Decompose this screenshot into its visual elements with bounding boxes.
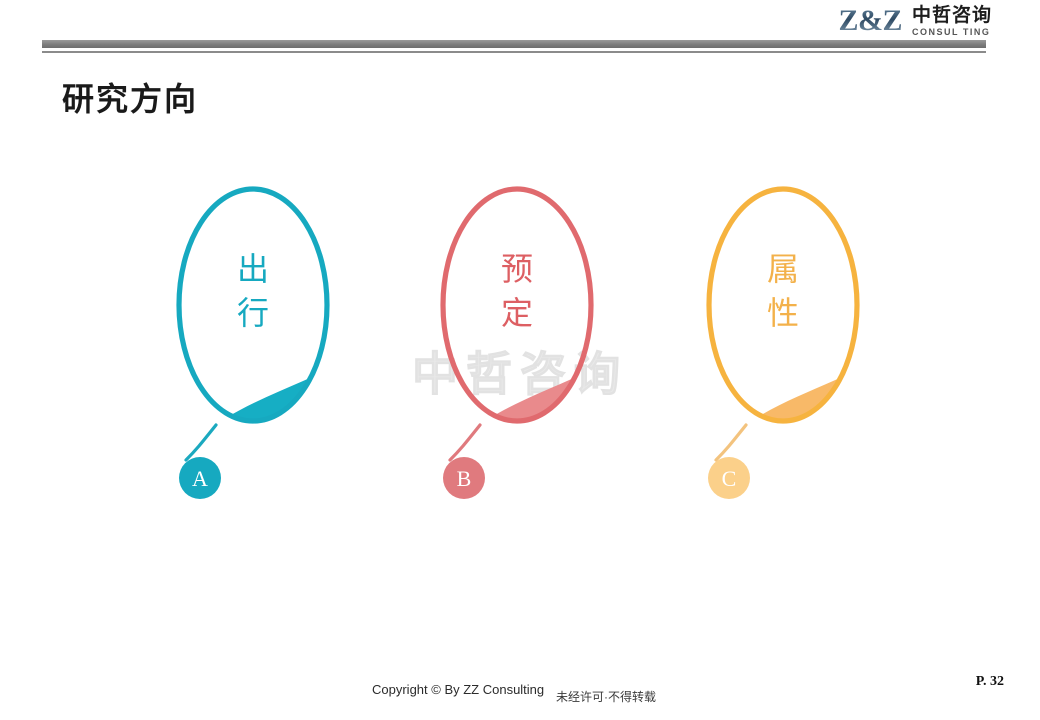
slide-canvas: Z&Z 中哲咨询 CONSUL TING 研究方向 中哲咨询 bbox=[0, 0, 1040, 720]
header-rule bbox=[42, 51, 986, 53]
diagram-area: 出 行 A 预 定 B bbox=[0, 150, 1040, 550]
leaf-shape-b bbox=[478, 365, 600, 440]
page-title: 研究方向 bbox=[62, 74, 198, 120]
connector-line-c bbox=[716, 425, 746, 460]
logo-company-name-en: CONSUL TING bbox=[912, 28, 992, 37]
header-bar bbox=[42, 40, 986, 48]
slide-footer: Copyright © By ZZ Consulting 未经许可·不得转载 P… bbox=[0, 682, 1040, 706]
leaf-shape-a bbox=[214, 365, 336, 440]
connector-line-a bbox=[186, 425, 216, 460]
logo-company-name-cn: 中哲咨询 bbox=[912, 6, 992, 25]
diagram-node-b[interactable]: 预 定 B bbox=[443, 189, 600, 499]
leaf-shape-c bbox=[744, 365, 866, 440]
footer-copyright: Copyright © By ZZ Consulting bbox=[372, 682, 544, 697]
badge-letter-b: B bbox=[457, 466, 472, 491]
node-a-label-line1: 出 bbox=[237, 251, 269, 287]
node-a-label-line2: 行 bbox=[237, 295, 269, 331]
diagram-node-a[interactable]: 出 行 A bbox=[179, 189, 336, 499]
page-number: P. 32 bbox=[976, 674, 1004, 690]
connector-line-b bbox=[450, 425, 480, 460]
logo-zz-mark: Z&Z bbox=[838, 4, 902, 38]
diagram-node-c[interactable]: 属 性 C bbox=[708, 189, 866, 499]
brand-logo: Z&Z 中哲咨询 CONSUL TING bbox=[838, 4, 992, 38]
footer-notice: 未经许可·不得转载 bbox=[556, 688, 656, 705]
node-c-label-line1: 属 bbox=[767, 251, 799, 287]
badge-letter-a: A bbox=[192, 466, 208, 491]
badge-letter-c: C bbox=[722, 466, 737, 491]
node-c-label-line2: 性 bbox=[767, 295, 799, 331]
node-b-label-line2: 定 bbox=[501, 295, 533, 331]
node-b-label-line1: 预 bbox=[501, 251, 533, 287]
logo-text-group: 中哲咨询 CONSUL TING bbox=[912, 6, 992, 37]
